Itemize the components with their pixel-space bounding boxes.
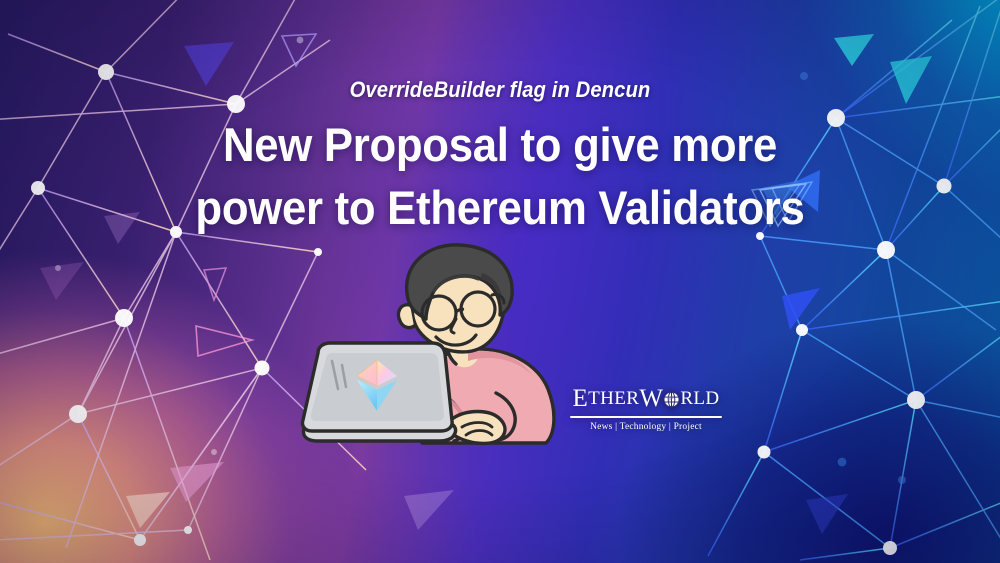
etherworld-logo[interactable]: ETHERW RLD News | Technology | Project [570,386,722,432]
kicker-text: OverrideBuilder flag in Dencun [77,78,923,102]
banner-image: OverrideBuilder flag in Dencun New Propo… [0,0,1000,563]
headline-line-2: power to Ethereum Validators [72,177,928,240]
logo-letter-w: W [639,386,663,411]
logo-wordmark: ETHERW RLD [570,386,722,411]
logo-letters-rld: RLD [680,389,719,408]
logo-tagline: News | Technology | Project [570,422,722,432]
person-at-laptop-illustration [296,243,582,465]
headline-line-1: New Proposal to give more [72,114,928,177]
logo-letters-ther: THER [588,389,639,408]
logo-divider [570,416,722,418]
globe-icon [663,391,680,408]
page-title: New Proposal to give more power to Ether… [72,114,928,239]
headline-block: OverrideBuilder flag in Dencun New Propo… [0,78,1000,239]
logo-letter-e: E [572,386,588,411]
